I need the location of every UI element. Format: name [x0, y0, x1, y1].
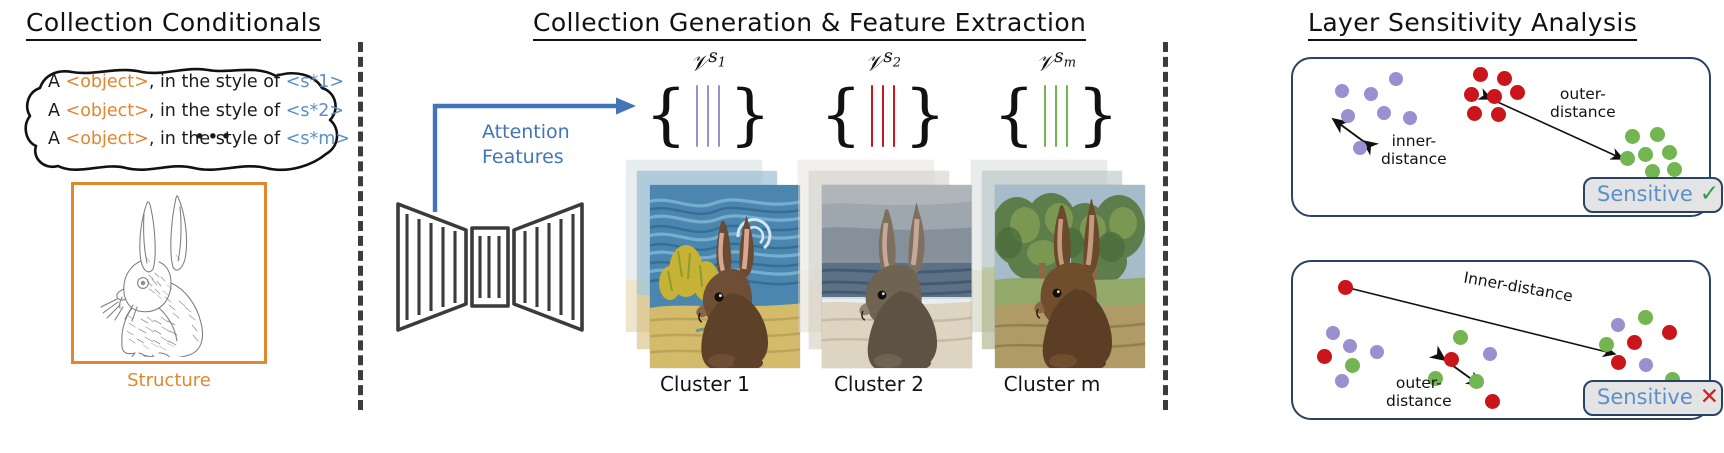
feature-bar [882, 85, 884, 147]
inner-distance-line1: inner- [1381, 132, 1447, 150]
feature-dot-green [1638, 147, 1653, 162]
feature-dot-red [1662, 325, 1677, 340]
feature-bar [707, 85, 709, 147]
feature-dot-red [1497, 71, 1512, 86]
outer-distance-line2: distance [1386, 392, 1452, 410]
structure-label: Structure [71, 370, 267, 391]
panel-divider-right [1163, 42, 1168, 410]
feature-dot-green [1650, 127, 1665, 142]
feature-set-group-1: 𝒱s1 { } [645, 48, 771, 158]
figure-root: Collection Conditionals A <object>, in t… [0, 0, 1724, 453]
feature-bar [893, 85, 895, 147]
check-icon: ✓ [1700, 183, 1719, 206]
object-token: <object> [66, 72, 149, 92]
feature-dot-purple [1326, 326, 1340, 340]
feature-bar [696, 85, 698, 147]
feature-brace-3: { } [993, 80, 1119, 152]
panel-title-collection-generation: Collection Generation & Feature Extracti… [533, 8, 1086, 41]
attention-features-line2: Features [482, 145, 570, 170]
feature-dot-green [1453, 330, 1468, 345]
feature-dot-red [1485, 394, 1500, 409]
status-badge-sensitive-no: Sensitive ✕ [1583, 380, 1723, 416]
inner-distance-label: inner- distance [1381, 132, 1447, 169]
feature-bar [1066, 85, 1068, 147]
feature-bar [871, 85, 873, 147]
feature-set-group-3: 𝒱sm { } [993, 48, 1119, 158]
feature-brace-1: { } [645, 80, 771, 152]
cluster-caption-1: Cluster 1 [615, 372, 795, 396]
outer-distance-line1: outer- [1386, 374, 1452, 392]
cluster-caption-3: Cluster m [962, 372, 1142, 396]
cluster-image-front [822, 185, 972, 368]
inner-distance-line2: distance [1381, 150, 1447, 168]
feature-bar [718, 85, 720, 147]
feature-dot-red [1444, 352, 1459, 367]
feature-set-label-1: 𝒱s1 [645, 46, 771, 76]
prompt-row-2: A <object>, in the style of <s*2> [48, 103, 360, 121]
unet-diagram-icon [392, 198, 588, 336]
feature-dot-red [1317, 349, 1332, 364]
feature-dot-purple [1403, 111, 1417, 125]
prompt-prefix: A [48, 129, 66, 149]
feature-set-group-2: 𝒱s2 { } [820, 48, 946, 158]
feature-bar [1055, 85, 1057, 147]
prompt-row-1: A <object>, in the style of <s*1> [48, 74, 360, 92]
outer-distance-line1: outer- [1550, 85, 1616, 103]
feature-dot-purple [1377, 106, 1391, 120]
feature-dot-green [1662, 145, 1677, 160]
rabbit-line-drawing-icon [81, 189, 257, 357]
feature-dot-green [1625, 129, 1640, 144]
attention-features-line1: Attention [482, 120, 570, 145]
feature-dot-purple [1353, 141, 1367, 155]
object-token: <object> [66, 101, 149, 121]
prompt-mid: , in the style of [149, 101, 286, 121]
cross-icon: ✕ [1700, 386, 1719, 409]
attention-features-label: Attention Features [482, 120, 570, 170]
feature-dot-red [1510, 85, 1525, 100]
outer-distance-line2: distance [1550, 103, 1616, 121]
status-badge-label: Sensitive [1597, 182, 1693, 206]
prompt-mid: , in the style of [149, 72, 286, 92]
feature-dot-red [1487, 89, 1502, 104]
status-badge-label: Sensitive [1597, 385, 1693, 409]
prompt-list: A <object>, in the style of <s*1> A <obj… [48, 74, 360, 160]
feature-dot-green [1620, 151, 1635, 166]
panel-title-collection-conditionals: Collection Conditionals [26, 8, 321, 41]
feature-dot-red [1627, 335, 1642, 350]
feature-dot-red [1338, 280, 1353, 295]
prompt-prefix: A [48, 101, 66, 121]
feature-dot-green [1599, 337, 1614, 352]
prompt-prefix: A [48, 72, 66, 92]
feature-dot-green [1345, 358, 1360, 373]
feature-brace-2: { } [820, 80, 946, 152]
feature-dot-purple [1335, 84, 1349, 98]
feature-set-label-2: 𝒱s2 [820, 46, 946, 76]
status-badge-sensitive-yes: Sensitive ✓ [1583, 177, 1723, 213]
outer-distance-label: outer- distance [1550, 85, 1616, 122]
feature-dot-purple [1389, 72, 1403, 86]
cluster-image-front [995, 185, 1145, 368]
style-token: <s*1> [286, 72, 344, 92]
cluster-image-front [650, 185, 800, 368]
feature-dot-red [1464, 87, 1479, 102]
object-token: <object> [66, 129, 149, 149]
feature-dot-green [1469, 374, 1484, 389]
feature-dot-green [1638, 310, 1653, 325]
feature-dot-purple [1335, 374, 1349, 388]
feature-set-label-3: 𝒱sm [993, 46, 1119, 76]
feature-dot-purple [1483, 347, 1497, 361]
cluster-image-stack-2 [798, 160, 958, 368]
cluster-image-stack-3 [971, 160, 1131, 368]
prompt-cloud: A <object>, in the style of <s*1> A <obj… [18, 58, 344, 178]
style-token: <s*2> [286, 101, 344, 121]
cluster-caption-2: Cluster 2 [789, 372, 969, 396]
feature-bar [1044, 85, 1046, 147]
structure-image-frame [71, 182, 267, 364]
feature-dot-purple [1341, 109, 1355, 123]
ellipsis-icon: ••• [194, 134, 234, 142]
outer-distance-label: outer- distance [1386, 374, 1452, 411]
feature-dot-purple [1343, 339, 1357, 353]
feature-dot-green [1667, 162, 1682, 177]
panel-title-layer-sensitivity: Layer Sensitivity Analysis [1308, 8, 1637, 41]
feature-dot-purple [1370, 345, 1384, 359]
feature-dot-red [1473, 67, 1488, 82]
feature-dot-purple [1611, 318, 1625, 332]
feature-dot-purple [1364, 87, 1378, 101]
feature-dot-red [1491, 107, 1506, 122]
feature-dot-red [1467, 106, 1482, 121]
feature-dot-red [1611, 355, 1626, 370]
feature-dot-purple [1639, 358, 1653, 372]
style-token: <s*m> [286, 129, 350, 149]
cluster-image-stack-1 [626, 160, 786, 368]
